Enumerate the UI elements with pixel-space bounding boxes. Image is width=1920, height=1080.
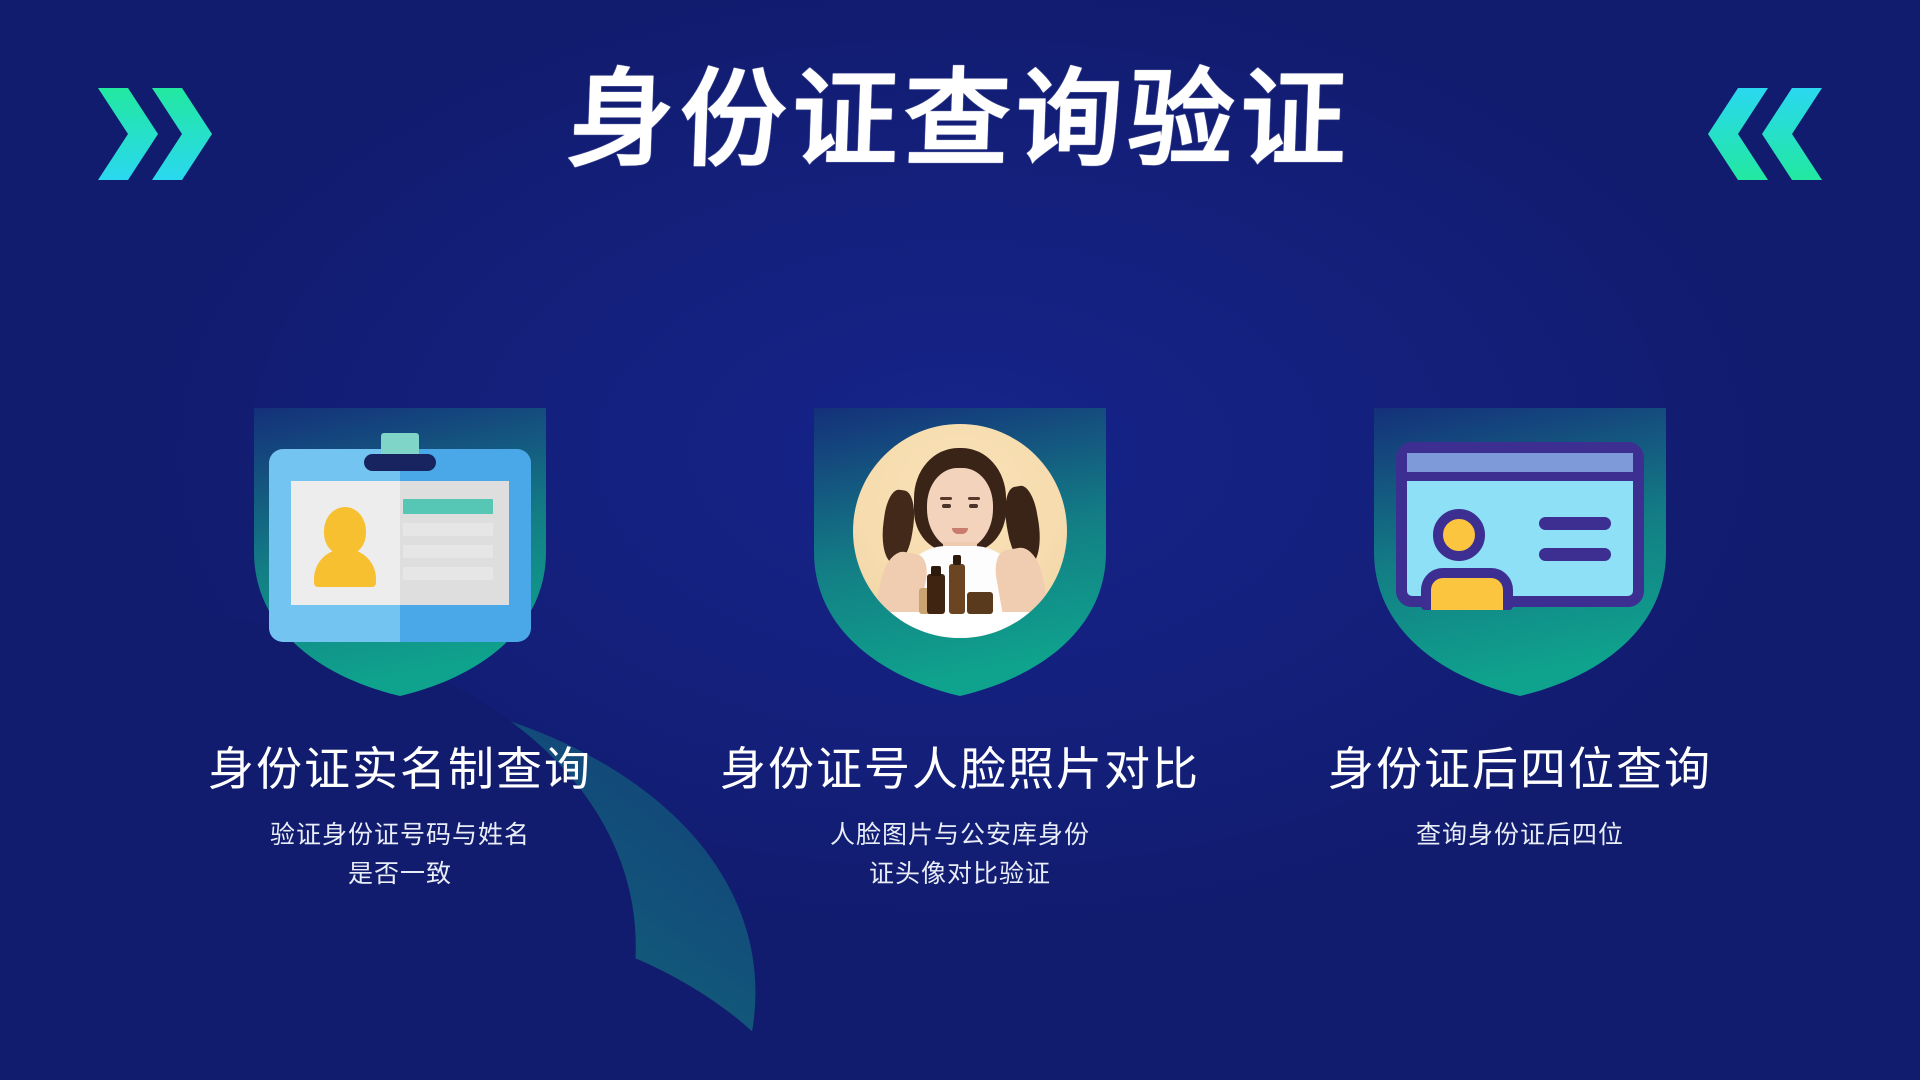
portrait-table <box>889 612 1031 638</box>
id-badge-icon <box>269 427 531 642</box>
id-card-avatar-head <box>1433 509 1485 561</box>
id-card-header-strip <box>1407 453 1633 481</box>
portrait-photo-icon <box>853 424 1067 638</box>
product-bottle <box>927 574 945 614</box>
feature-card-face-photo-compare[interactable]: 身份证号人脸照片对比 人脸图片与公安库身份 证头像对比验证 <box>680 380 1240 893</box>
portrait-eye-right <box>969 504 978 508</box>
badge-inner-panel <box>291 481 509 605</box>
card-title: 身份证后四位查询 <box>1328 743 1712 796</box>
card-subtitle-line: 是否一致 <box>270 855 530 894</box>
card-artwork <box>790 380 1130 725</box>
card-subtitle-line: 查询身份证后四位 <box>1416 816 1624 855</box>
id-card-avatar-body <box>1421 568 1513 610</box>
portrait-eye-left <box>942 504 951 508</box>
badge-line <box>403 567 493 580</box>
badge-clip-bar <box>364 454 436 471</box>
badge-photo <box>305 493 385 593</box>
badge-line <box>403 545 493 558</box>
product-bottle <box>949 564 965 614</box>
product-jar <box>967 592 993 614</box>
page-title: 身份证查询验证 <box>566 67 1354 173</box>
card-subtitle: 验证身份证号码与姓名 是否一致 <box>270 816 530 894</box>
feature-card-realname-query[interactable]: 身份证实名制查询 验证身份证号码与姓名 是否一致 <box>120 380 680 893</box>
card-subtitle: 人脸图片与公安库身份 证头像对比验证 <box>830 816 1090 894</box>
id-card-icon <box>1396 442 1644 607</box>
feature-card-last-four-digits-query[interactable]: 身份证后四位查询 查询身份证后四位 <box>1240 380 1800 855</box>
badge-line-accent <box>403 499 493 514</box>
id-card-text-line <box>1539 548 1611 561</box>
chevron-left-icon <box>1760 88 1824 180</box>
chevron-right-icon <box>150 88 214 180</box>
badge-line <box>403 523 493 536</box>
card-artwork <box>1350 380 1690 725</box>
feature-card-row: 身份证实名制查询 验证身份证号码与姓名 是否一致 <box>0 380 1920 893</box>
avatar-head <box>324 507 366 555</box>
portrait-mouth <box>952 528 968 534</box>
id-card-text-line <box>1539 517 1611 530</box>
card-subtitle-line: 验证身份证号码与姓名 <box>270 816 530 855</box>
avatar-body <box>314 549 376 587</box>
card-title: 身份证号人脸照片对比 <box>720 743 1200 796</box>
double-chevron-right-icon <box>96 88 214 180</box>
portrait-brow-left <box>940 497 952 500</box>
card-artwork <box>230 380 570 725</box>
card-subtitle: 查询身份证后四位 <box>1416 816 1624 855</box>
portrait-brow-right <box>968 497 980 500</box>
page-header: 身份证查询验证 <box>0 0 1920 240</box>
card-title: 身份证实名制查询 <box>208 743 592 796</box>
card-subtitle-line: 人脸图片与公安库身份 <box>830 816 1090 855</box>
portrait-face <box>927 468 993 550</box>
badge-text-lines <box>403 499 493 589</box>
card-subtitle-line: 证头像对比验证 <box>830 855 1090 894</box>
double-chevron-left-icon <box>1706 88 1824 180</box>
